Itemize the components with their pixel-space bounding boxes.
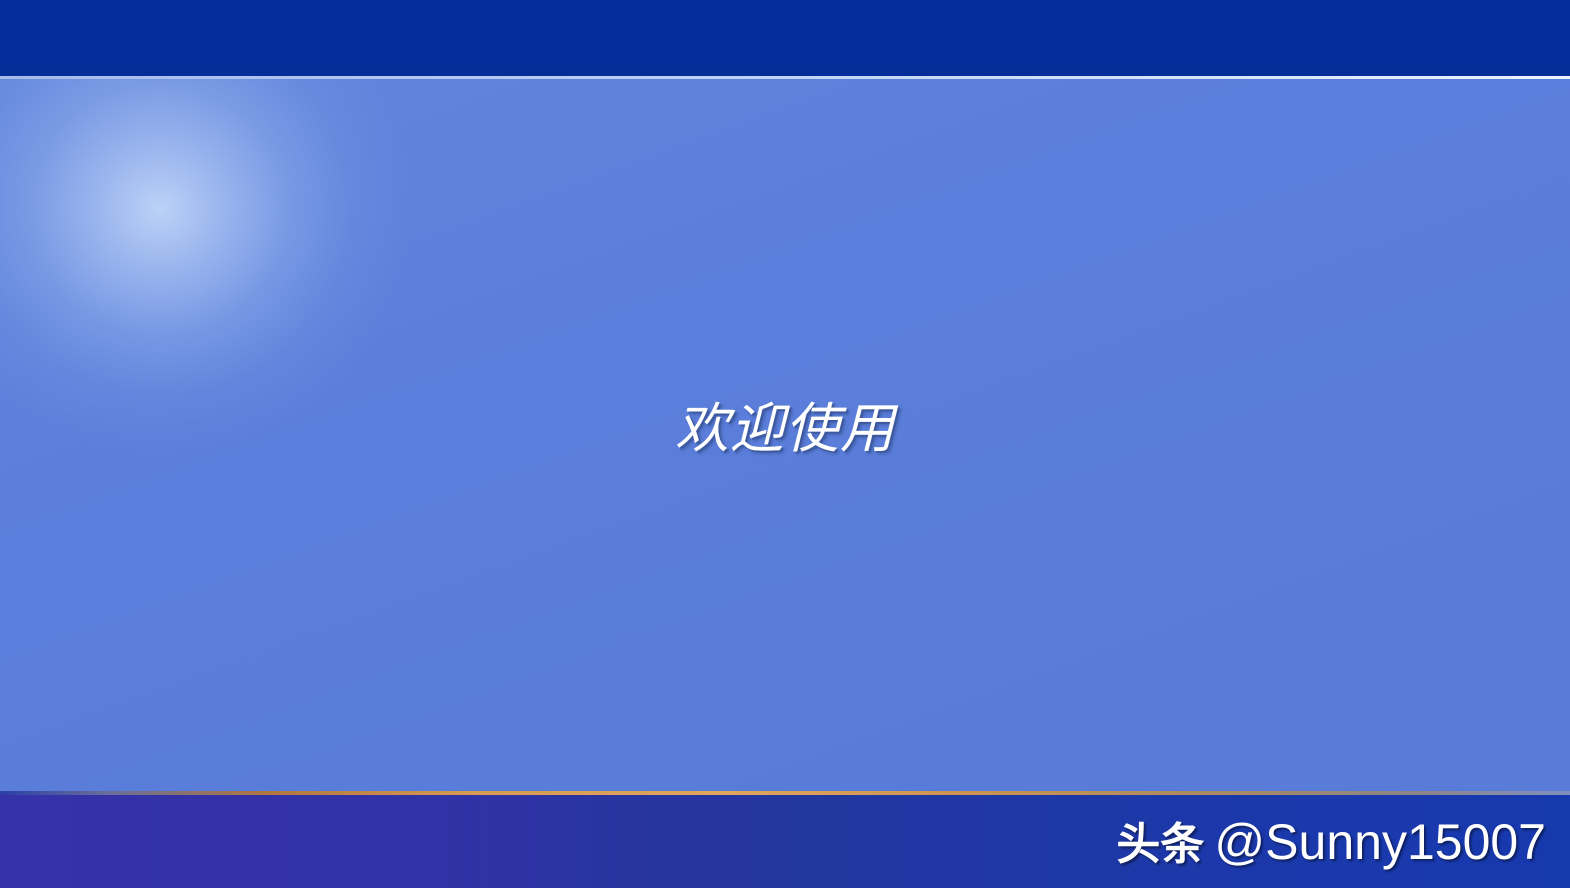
footer-band: 头条 @Sunny15007 <box>0 795 1570 888</box>
top-band <box>0 0 1570 76</box>
slide-title: 欢迎使用 <box>675 402 895 456</box>
watermark-source-label: 头条 <box>1116 823 1204 867</box>
watermark-handle: @Sunny15007 <box>1214 817 1546 867</box>
presentation-slide: 欢迎使用 头条 @Sunny15007 <box>0 0 1570 888</box>
slide-content-area: 欢迎使用 <box>0 79 1570 791</box>
watermark: 头条 @Sunny15007 <box>1116 817 1546 867</box>
title-container: 欢迎使用 <box>0 79 1570 791</box>
top-band-shade <box>0 62 1570 76</box>
